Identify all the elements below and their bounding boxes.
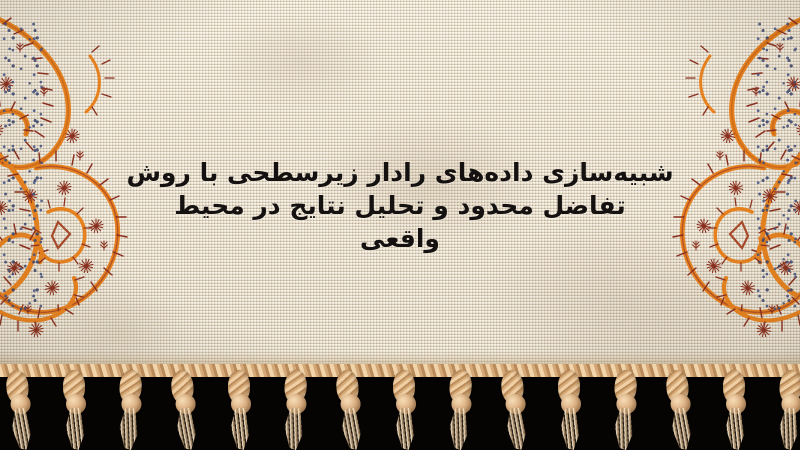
title-line-2: تفاضل محدود و تحلیل نتایج در محیط [0, 189, 800, 222]
title-line-1: شبیه‌سازی داده‌های رادار زیرسطحی با روش [0, 156, 800, 189]
tassel [333, 367, 369, 450]
tassel-brush [447, 407, 470, 450]
tassel [608, 367, 644, 450]
tassel [721, 368, 751, 450]
tassel [556, 368, 586, 450]
tassel [113, 367, 149, 450]
tassel [773, 367, 800, 450]
tassel [391, 368, 421, 450]
tassel-brush [282, 407, 305, 450]
tassel-brush [175, 407, 198, 450]
tassel [61, 368, 91, 450]
tassel [498, 367, 534, 450]
tassel [663, 367, 699, 450]
tassel-brush [230, 408, 250, 450]
tassel-brush [670, 407, 693, 450]
tassel-brush [725, 408, 745, 450]
tassel [168, 367, 204, 450]
tassel-brush [777, 407, 800, 450]
tassel-brush [340, 407, 363, 450]
tassel-brush [65, 408, 85, 450]
tassel-brush [505, 407, 528, 450]
presentation-slide: شبیه‌سازی داده‌های رادار زیرسطحی با روش … [0, 0, 800, 450]
tassel-brush [612, 407, 635, 450]
tassel-brush [117, 407, 140, 450]
tassel [3, 367, 39, 450]
tassel-brush [10, 407, 33, 450]
tassel [443, 367, 479, 450]
title-line-3: واقعی [0, 222, 800, 255]
tassel [278, 367, 314, 450]
slide-title: شبیه‌سازی داده‌های رادار زیرسطحی با روش … [0, 156, 800, 255]
tassel-brush [560, 408, 580, 450]
tassel [226, 368, 256, 450]
tassel-brush [395, 408, 415, 450]
